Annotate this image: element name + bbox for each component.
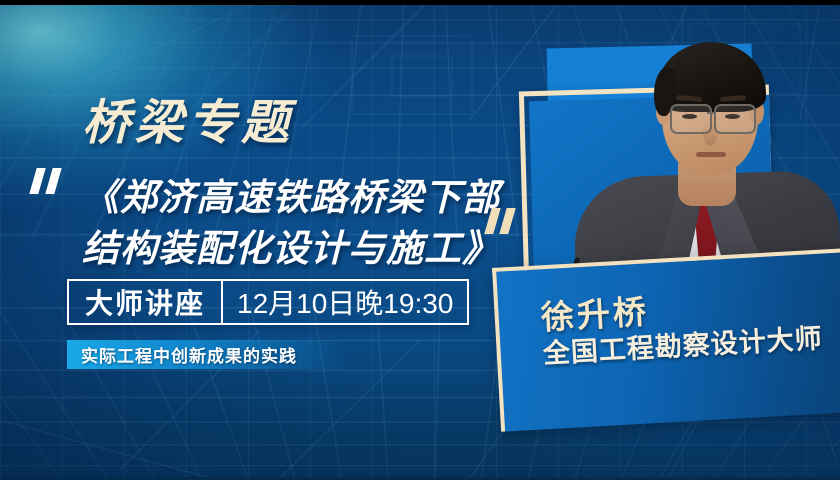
lecture-label: 大师讲座 bbox=[69, 281, 221, 323]
top-black-bar bbox=[0, 0, 840, 5]
quote-close-icon bbox=[488, 208, 524, 234]
subtitle-bar: 实际工程中创新成果的实践 bbox=[67, 340, 347, 369]
book-title: 《郑济高速铁路桥梁下部 结构装配化设计与施工》 bbox=[82, 172, 512, 274]
subtitle-text: 实际工程中创新成果的实践 bbox=[67, 342, 297, 367]
lecture-info-box: 大师讲座 12月10日晚19:30 bbox=[67, 279, 469, 325]
page-title: 桥梁专题 bbox=[82, 100, 294, 148]
book-title-line-2: 结构装配化设计与施工》 bbox=[82, 223, 512, 274]
quote-open-icon bbox=[33, 168, 73, 194]
book-title-line-1: 《郑济高速铁路桥梁下部 bbox=[82, 172, 512, 223]
promo-poster: 徐升桥 全国工程勘察设计大师 桥梁专题 《郑济高速铁路桥梁下部 结构装配化设计与… bbox=[0, 0, 840, 480]
lecture-date: 12月10日晚19:30 bbox=[223, 281, 467, 323]
